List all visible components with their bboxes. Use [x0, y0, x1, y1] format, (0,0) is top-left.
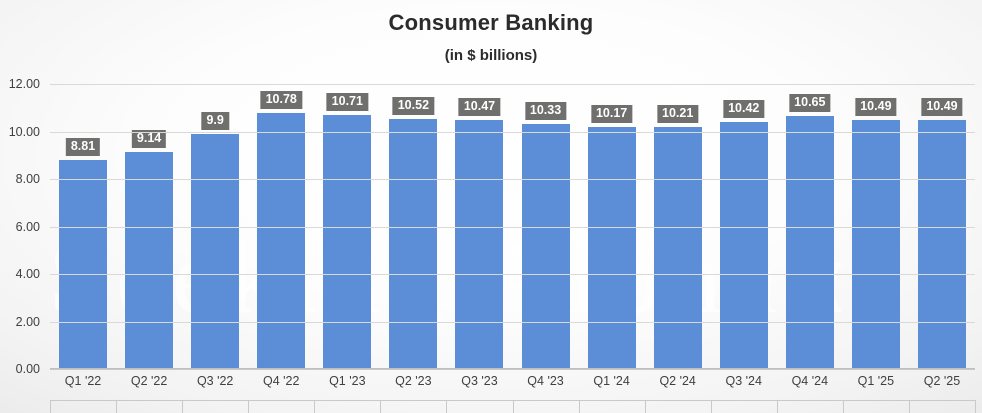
bar-value-label: 10.49: [855, 98, 896, 116]
gridline: [50, 274, 975, 275]
gridline: [50, 322, 975, 323]
x-axis-category-labels: Q1 '22Q2 '22Q3 '22Q4 '22Q1 '23Q2 '23Q3 '…: [50, 372, 975, 400]
bar[interactable]: [191, 134, 239, 369]
gridline: [50, 227, 975, 228]
bar[interactable]: [59, 160, 107, 369]
x-tick-label: Q3 '22: [182, 374, 248, 388]
bar[interactable]: [654, 127, 702, 369]
category-separator: [116, 400, 117, 413]
x-tick-label: Q4 '24: [777, 374, 843, 388]
category-axis-top-line: [50, 369, 975, 370]
chart-container: Seeking Alphaα Consumer Banking (in $ bi…: [0, 0, 982, 413]
category-separator: [645, 400, 646, 413]
bar[interactable]: [720, 122, 768, 369]
y-tick-label: 0.00: [16, 362, 40, 376]
chart-title: Consumer Banking: [0, 10, 982, 36]
bar-value-label: 10.78: [261, 91, 302, 109]
bar-value-label: 10.33: [525, 102, 566, 120]
bar-value-label: 8.81: [66, 138, 100, 156]
x-tick-label: Q4 '23: [513, 374, 579, 388]
chart-subtitle: (in $ billions): [0, 47, 982, 64]
x-tick-label: Q2 '25: [909, 374, 975, 388]
category-separator: [50, 400, 51, 413]
x-tick-label: Q1 '22: [50, 374, 116, 388]
gridline: [50, 132, 975, 133]
y-tick-label: 2.00: [16, 315, 40, 329]
category-separator: [975, 400, 976, 413]
bar[interactable]: [786, 116, 834, 369]
gridline: [50, 84, 975, 85]
category-separator: [711, 400, 712, 413]
y-axis-tick-labels: 0.002.004.006.008.0010.0012.00: [0, 84, 46, 369]
bar-value-label: 10.52: [393, 97, 434, 115]
bar[interactable]: [588, 127, 636, 369]
category-separator: [777, 400, 778, 413]
x-tick-label: Q3 '23: [446, 374, 512, 388]
bar-value-label: 10.42: [723, 100, 764, 118]
x-tick-label: Q3 '24: [711, 374, 777, 388]
category-separator: [909, 400, 910, 413]
bar[interactable]: [389, 119, 437, 369]
x-tick-label: Q2 '23: [380, 374, 446, 388]
bar-value-label: 10.71: [327, 93, 368, 111]
y-tick-label: 12.00: [9, 77, 40, 91]
category-separator: [579, 400, 580, 413]
bar-value-label: 9.9: [201, 112, 228, 130]
bar[interactable]: [323, 115, 371, 369]
x-tick-label: Q2 '22: [116, 374, 182, 388]
category-separator: [380, 400, 381, 413]
category-separator: [182, 400, 183, 413]
bar-value-label: 10.49: [921, 98, 962, 116]
bar[interactable]: [852, 120, 900, 369]
category-separator: [843, 400, 844, 413]
x-tick-label: Q1 '25: [843, 374, 909, 388]
bar[interactable]: [257, 113, 305, 369]
bar-value-label: 10.65: [789, 94, 830, 112]
y-tick-label: 10.00: [9, 125, 40, 139]
x-tick-label: Q1 '24: [579, 374, 645, 388]
bar[interactable]: [455, 120, 503, 369]
bar[interactable]: [522, 124, 570, 369]
bar-value-label: 9.14: [132, 130, 166, 148]
x-tick-label: Q4 '22: [248, 374, 314, 388]
x-tick-label: Q1 '23: [314, 374, 380, 388]
y-tick-label: 4.00: [16, 267, 40, 281]
bar[interactable]: [918, 120, 966, 369]
bar[interactable]: [125, 152, 173, 369]
plot-area: 8.819.149.910.7810.7110.5210.4710.3310.1…: [50, 84, 975, 369]
bar-value-label: 10.21: [657, 105, 698, 123]
category-separator: [446, 400, 447, 413]
category-separator: [314, 400, 315, 413]
y-tick-label: 8.00: [16, 172, 40, 186]
bar-value-label: 10.17: [591, 105, 632, 123]
category-separator: [513, 400, 514, 413]
bar-value-label: 10.47: [459, 98, 500, 116]
gridline: [50, 179, 975, 180]
y-tick-label: 6.00: [16, 220, 40, 234]
x-tick-label: Q2 '24: [645, 374, 711, 388]
category-separator: [248, 400, 249, 413]
